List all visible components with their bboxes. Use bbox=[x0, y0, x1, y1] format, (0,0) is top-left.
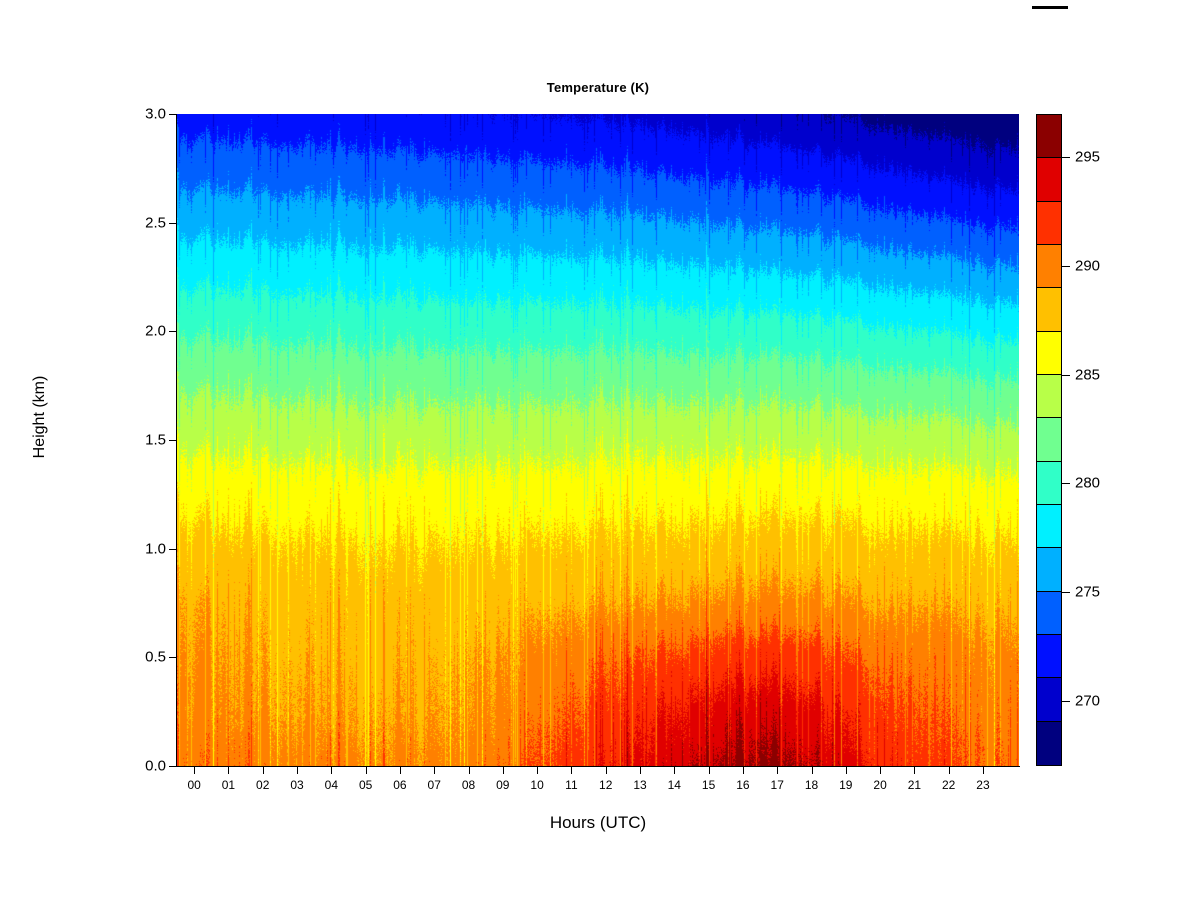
colorbar-tick-labels: 270275280285290295 bbox=[1062, 0, 1182, 900]
colorbar-block bbox=[1037, 418, 1061, 461]
y-axis-tick-label: 0.5 bbox=[120, 649, 166, 666]
x-axis-tick-mark bbox=[880, 767, 881, 774]
heatmap-plot-area bbox=[177, 114, 1019, 766]
colorbar-tick-label: 275 bbox=[1075, 584, 1100, 601]
colorbar bbox=[1036, 114, 1062, 766]
x-axis-tick-mark bbox=[331, 767, 332, 774]
x-axis-tick-mark bbox=[640, 767, 641, 774]
y-axis-tick-label: 0.0 bbox=[120, 758, 166, 775]
y-axis-tick-mark bbox=[169, 440, 176, 441]
x-axis-tick-mark bbox=[983, 767, 984, 774]
x-axis-line bbox=[177, 766, 1020, 767]
y-axis-tick-label: 2.5 bbox=[120, 214, 166, 231]
y-axis-tick-label: 1.5 bbox=[120, 432, 166, 449]
x-axis-tick-mark bbox=[674, 767, 675, 774]
colorbar-block bbox=[1037, 635, 1061, 678]
colorbar-tick-mark bbox=[1062, 266, 1070, 267]
x-axis-tick-mark bbox=[434, 767, 435, 774]
x-axis-tick-mark bbox=[846, 767, 847, 774]
x-axis-tick-mark bbox=[400, 767, 401, 774]
colorbar-tick-mark bbox=[1062, 157, 1070, 158]
x-axis-tick-mark bbox=[571, 767, 572, 774]
colorbar-tick-label: 285 bbox=[1075, 366, 1100, 383]
x-axis-tick-mark bbox=[949, 767, 950, 774]
y-axis-title: Height (km) bbox=[31, 337, 49, 497]
colorbar-block bbox=[1037, 592, 1061, 635]
colorbar-tick-mark bbox=[1062, 701, 1070, 702]
colorbar-tick-mark bbox=[1062, 483, 1070, 484]
colorbar-tick-label: 270 bbox=[1075, 692, 1100, 709]
x-axis-tick-mark bbox=[263, 767, 264, 774]
x-axis-tick-mark bbox=[469, 767, 470, 774]
x-axis-tick-mark bbox=[606, 767, 607, 774]
x-axis-tick-mark bbox=[743, 767, 744, 774]
x-axis-tick-mark bbox=[194, 767, 195, 774]
colorbar-block bbox=[1037, 115, 1061, 158]
page-title: Temperature (K) bbox=[177, 80, 1019, 95]
colorbar-tick-label: 280 bbox=[1075, 475, 1100, 492]
temperature-field-canvas bbox=[177, 114, 1019, 766]
colorbar-block bbox=[1037, 202, 1061, 245]
y-axis-tick-label: 2.0 bbox=[120, 323, 166, 340]
y-axis-tick-label: 3.0 bbox=[120, 106, 166, 123]
y-axis-tick-mark bbox=[169, 331, 176, 332]
y-axis-tick-mark bbox=[169, 223, 176, 224]
colorbar-block bbox=[1037, 462, 1061, 505]
colorbar-block bbox=[1037, 375, 1061, 418]
x-axis-tick-mark bbox=[777, 767, 778, 774]
colorbar-tick-mark bbox=[1062, 592, 1070, 593]
x-axis-tick-mark bbox=[297, 767, 298, 774]
x-axis-title: Hours (UTC) bbox=[177, 813, 1019, 833]
colorbar-block bbox=[1037, 245, 1061, 288]
x-axis-tick-mark bbox=[366, 767, 367, 774]
colorbar-block bbox=[1037, 722, 1061, 765]
y-axis-line bbox=[176, 114, 177, 767]
colorbar-tick-mark bbox=[1062, 375, 1070, 376]
y-axis-tick-mark bbox=[169, 657, 176, 658]
colorbar-block bbox=[1037, 158, 1061, 201]
x-axis-tick-mark bbox=[812, 767, 813, 774]
colorbar-tick-label: 290 bbox=[1075, 258, 1100, 275]
y-axis-tick-label: 1.0 bbox=[120, 540, 166, 557]
y-axis-tick-mark bbox=[169, 549, 176, 550]
x-axis-tick-mark bbox=[503, 767, 504, 774]
colorbar-block bbox=[1037, 505, 1061, 548]
y-axis-tick-mark bbox=[169, 114, 176, 115]
x-axis-tick-label: 23 bbox=[963, 778, 1003, 792]
x-axis-tick-mark bbox=[914, 767, 915, 774]
colorbar-block bbox=[1037, 288, 1061, 331]
colorbar-block bbox=[1037, 678, 1061, 721]
x-axis-tick-mark bbox=[228, 767, 229, 774]
y-axis-tick-mark bbox=[169, 766, 176, 767]
colorbar-block bbox=[1037, 548, 1061, 591]
figure-canvas: Temperature (K) 0.00.51.01.52.02.53.0 00… bbox=[0, 0, 1200, 900]
y-axis-tick-labels: 0.00.51.01.52.02.53.0 bbox=[110, 0, 166, 900]
colorbar-block bbox=[1037, 332, 1061, 375]
x-axis-tick-mark bbox=[537, 767, 538, 774]
x-axis-tick-mark bbox=[709, 767, 710, 774]
colorbar-tick-label: 295 bbox=[1075, 149, 1100, 166]
